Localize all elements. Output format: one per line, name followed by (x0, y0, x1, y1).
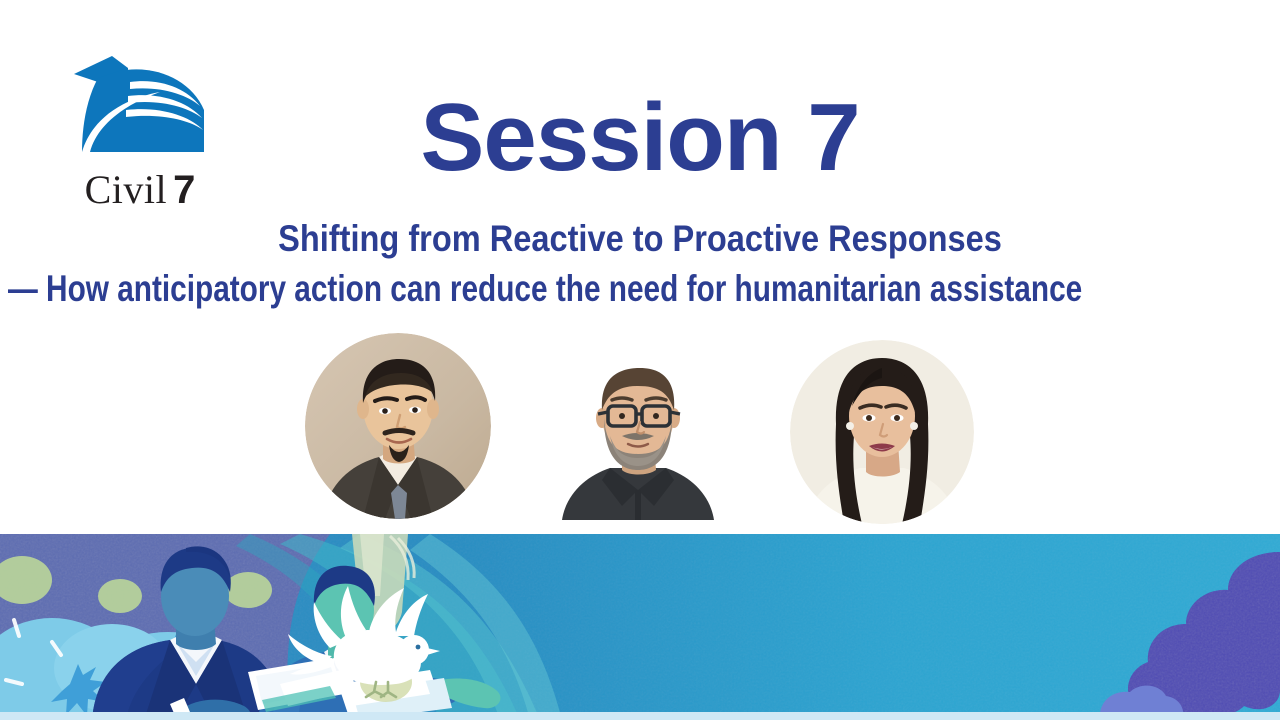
page-title: Session 7 (0, 88, 1280, 189)
speaker-portrait-1 (305, 333, 491, 519)
speaker-portrait-2 (552, 348, 724, 520)
subtitle-line-1: Shifting from Reactive to Proactive Resp… (77, 218, 1203, 260)
subtitle-line-2: — How anticipatory action can reduce the… (8, 268, 1026, 310)
c7-bottom-band-illustration (0, 534, 1280, 720)
slide-canvas: Civil7 Session 7 Shifting from Reactive … (0, 0, 1280, 720)
speaker-portrait-3 (790, 340, 974, 524)
